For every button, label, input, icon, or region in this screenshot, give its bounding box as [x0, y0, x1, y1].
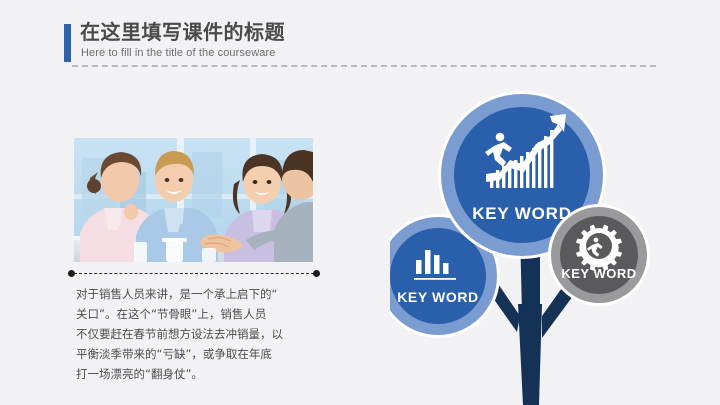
- header-dashed-rule: [72, 65, 656, 67]
- tree-node-left-label: KEY WORD: [397, 289, 479, 305]
- body-line: 打一场漂亮的“翻身仗”。: [76, 364, 322, 384]
- page-title: 在这里填写课件的标题: [80, 21, 285, 45]
- body-line: 不仅要赶在春节前想方设法去冲销量，以: [76, 324, 322, 344]
- tree-node-top-label: KEY WORD: [472, 204, 572, 223]
- tree-node-right-label: KEY WORD: [561, 266, 636, 281]
- divider-dashed-line: [74, 273, 314, 274]
- divider-dot-right: [313, 270, 320, 277]
- body-line: 平衡淡季带来的“亏缺”，或争取在年底: [76, 344, 322, 364]
- slide-header: 在这里填写课件的标题 Here to fill in the title of …: [60, 22, 660, 64]
- tree-node-right[interactable]: KEY WORD: [548, 204, 650, 306]
- slide-canvas: 在这里填写课件的标题 Here to fill in the title of …: [0, 0, 720, 405]
- tree-infographic: KEY WORD: [390, 80, 720, 405]
- title-accent-bar: [64, 24, 71, 62]
- gear-running-person-icon: [576, 225, 622, 271]
- body-line: 关口”。在这个“节骨眼”上，销售人员: [76, 304, 322, 324]
- page-subtitle: Here to fill in the title of the coursew…: [81, 46, 275, 60]
- body-paragraph: 对于销售人员来讲，是一个承上启下的“ 关口”。在这个“节骨眼”上，销售人员 不仅…: [76, 284, 322, 384]
- business-handshake-photo: [74, 138, 313, 262]
- body-line: 对于销售人员来讲，是一个承上启下的“: [76, 284, 322, 304]
- dotted-divider: [68, 270, 320, 278]
